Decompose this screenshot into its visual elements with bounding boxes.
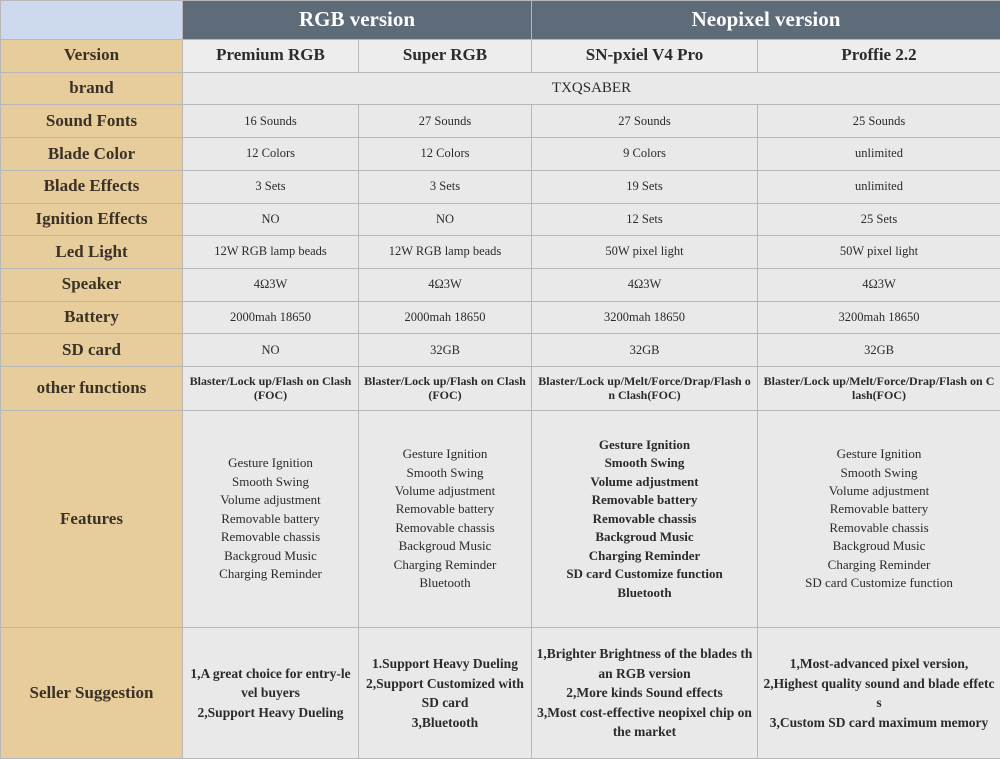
- row-label-sound-fonts: Sound Fonts: [1, 105, 183, 138]
- cell-sound-fonts-col2: 27 Sounds: [359, 105, 532, 138]
- cell-battery-col4: 3200mah 18650: [758, 301, 1000, 334]
- feature-line: Bluetooth: [536, 584, 753, 602]
- cell-other-functions-col2: Blaster/Lock up/Flash on Clash(FOC): [359, 367, 532, 411]
- cell-blade-effects-col4: unlimited: [758, 170, 1000, 203]
- cell-ignition-effects-col2: NO: [359, 203, 532, 236]
- cell-led-light-col2: 12W RGB lamp beads: [359, 236, 532, 269]
- row-label-seller-suggestion: Seller Suggestion: [1, 628, 183, 759]
- feature-line: Removable chassis: [762, 519, 996, 537]
- feature-line: 2,Highest quality sound and blade effetc…: [762, 674, 996, 713]
- feature-line: SD card Customize function: [536, 565, 753, 583]
- group-header-row: RGB version Neopixel version: [1, 1, 1000, 40]
- feature-line: 1,Most-advanced pixel version,: [762, 654, 996, 674]
- cell-ignition-effects-col3: 12 Sets: [532, 203, 758, 236]
- feature-line: 1.Support Heavy Dueling: [363, 654, 527, 674]
- cell-other-functions-col3: Blaster/Lock up/Melt/Force/Drap/Flash on…: [532, 367, 758, 411]
- cell-features-col2: Gesture IgnitionSmooth SwingVolume adjus…: [359, 410, 532, 628]
- feature-line: SD card Customize function: [762, 574, 996, 592]
- product-comparison-table: RGB version Neopixel version Version Pre…: [0, 0, 1000, 759]
- cell-speaker-col4: 4Ω3W: [758, 268, 1000, 301]
- cell-sd-card-col4: 32GB: [758, 334, 1000, 367]
- feature-line: Backgroud Music: [187, 547, 354, 565]
- row-label-other-functions: other functions: [1, 367, 183, 411]
- cell-version-col1: Premium RGB: [183, 39, 359, 72]
- table-row: Led Light 12W RGB lamp beads 12W RGB lam…: [1, 236, 1000, 269]
- cell-blade-effects-col1: 3 Sets: [183, 170, 359, 203]
- cell-sd-card-col3: 32GB: [532, 334, 758, 367]
- row-label-sd-card: SD card: [1, 334, 183, 367]
- feature-line: Backgroud Music: [536, 528, 753, 546]
- row-label-ignition-effects: Ignition Effects: [1, 203, 183, 236]
- table-row: Blade Effects 3 Sets 3 Sets 19 Sets unli…: [1, 170, 1000, 203]
- feature-line: Backgroud Music: [762, 537, 996, 555]
- cell-version-col3: SN-pxiel V4 Pro: [532, 39, 758, 72]
- cell-ignition-effects-col4: 25 Sets: [758, 203, 1000, 236]
- cell-blade-color-col3: 9 Colors: [532, 138, 758, 171]
- group-header-rgb: RGB version: [183, 1, 532, 40]
- feature-line: Gesture Ignition: [536, 436, 753, 454]
- feature-line: Removable battery: [762, 500, 996, 518]
- cell-seller-suggestion-col2: 1.Support Heavy Dueling2,Support Customi…: [359, 628, 532, 759]
- cell-version-col4: Proffie 2.2: [758, 39, 1000, 72]
- feature-line: Smooth Swing: [187, 473, 354, 491]
- cell-brand-merged: TXQSABER: [183, 72, 1000, 105]
- cell-version-col2: Super RGB: [359, 39, 532, 72]
- cell-ignition-effects-col1: NO: [183, 203, 359, 236]
- cell-sound-fonts-col3: 27 Sounds: [532, 105, 758, 138]
- cell-features-col1: Gesture IgnitionSmooth SwingVolume adjus…: [183, 410, 359, 628]
- cell-speaker-col2: 4Ω3W: [359, 268, 532, 301]
- cell-blade-color-col1: 12 Colors: [183, 138, 359, 171]
- feature-line: Bluetooth: [363, 574, 527, 592]
- table-row: Speaker 4Ω3W 4Ω3W 4Ω3W 4Ω3W: [1, 268, 1000, 301]
- cell-seller-suggestion-col4: 1,Most-advanced pixel version,2,Highest …: [758, 628, 1000, 759]
- feature-line: 3,Custom SD card maximum memory: [762, 713, 996, 733]
- feature-line: 1,Brighter Brightness of the blades than…: [536, 644, 753, 683]
- table-row: brand TXQSABER: [1, 72, 1000, 105]
- feature-line: Charging Reminder: [363, 556, 527, 574]
- feature-line: Gesture Ignition: [187, 454, 354, 472]
- row-label-speaker: Speaker: [1, 268, 183, 301]
- row-label-battery: Battery: [1, 301, 183, 334]
- feature-line: Removable chassis: [536, 510, 753, 528]
- feature-line: Smooth Swing: [762, 464, 996, 482]
- row-label-led-light: Led Light: [1, 236, 183, 269]
- cell-features-col4: Gesture IgnitionSmooth SwingVolume adjus…: [758, 410, 1000, 628]
- feature-line: 2,More kinds Sound effects: [536, 683, 753, 703]
- feature-line: Volume adjustment: [762, 482, 996, 500]
- cell-battery-col1: 2000mah 18650: [183, 301, 359, 334]
- cell-blade-effects-col3: 19 Sets: [532, 170, 758, 203]
- feature-line: Backgroud Music: [363, 537, 527, 555]
- cell-blade-effects-col2: 3 Sets: [359, 170, 532, 203]
- feature-line: Volume adjustment: [536, 473, 753, 491]
- table-row: Battery 2000mah 18650 2000mah 18650 3200…: [1, 301, 1000, 334]
- cell-led-light-col4: 50W pixel light: [758, 236, 1000, 269]
- cell-sd-card-col1: NO: [183, 334, 359, 367]
- cell-sound-fonts-col4: 25 Sounds: [758, 105, 1000, 138]
- cell-sd-card-col2: 32GB: [359, 334, 532, 367]
- table-row: Features Gesture IgnitionSmooth SwingVol…: [1, 410, 1000, 628]
- feature-line: 2,Support Heavy Dueling: [187, 703, 354, 723]
- feature-line: Removable battery: [187, 510, 354, 528]
- feature-line: Charging Reminder: [536, 547, 753, 565]
- cell-blade-color-col4: unlimited: [758, 138, 1000, 171]
- table-row: Seller Suggestion 1,A great choice for e…: [1, 628, 1000, 759]
- table-row: Blade Color 12 Colors 12 Colors 9 Colors…: [1, 138, 1000, 171]
- cell-seller-suggestion-col1: 1,A great choice for entry-level buyers2…: [183, 628, 359, 759]
- cell-blade-color-col2: 12 Colors: [359, 138, 532, 171]
- cell-sound-fonts-col1: 16 Sounds: [183, 105, 359, 138]
- cell-other-functions-col4: Blaster/Lock up/Melt/Force/Drap/Flash on…: [758, 367, 1000, 411]
- corner-cell: [1, 1, 183, 40]
- cell-led-light-col3: 50W pixel light: [532, 236, 758, 269]
- feature-line: Smooth Swing: [363, 464, 527, 482]
- feature-line: Smooth Swing: [536, 454, 753, 472]
- row-label-blade-color: Blade Color: [1, 138, 183, 171]
- feature-line: Gesture Ignition: [762, 445, 996, 463]
- feature-line: Removable battery: [536, 491, 753, 509]
- table-row: Version Premium RGB Super RGB SN-pxiel V…: [1, 39, 1000, 72]
- feature-line: 1,A great choice for entry-level buyers: [187, 664, 354, 703]
- feature-line: 3,Most cost-effective neopixel chip on t…: [536, 703, 753, 742]
- feature-line: 2,Support Customized with SD card: [363, 674, 527, 713]
- table-row: Ignition Effects NO NO 12 Sets 25 Sets: [1, 203, 1000, 236]
- row-label-brand: brand: [1, 72, 183, 105]
- cell-led-light-col1: 12W RGB lamp beads: [183, 236, 359, 269]
- row-label-version: Version: [1, 39, 183, 72]
- feature-line: 3,Bluetooth: [363, 713, 527, 733]
- row-label-features: Features: [1, 410, 183, 628]
- feature-line: Gesture Ignition: [363, 445, 527, 463]
- feature-line: Removable chassis: [187, 528, 354, 546]
- feature-line: Removable battery: [363, 500, 527, 518]
- cell-speaker-col3: 4Ω3W: [532, 268, 758, 301]
- feature-line: Volume adjustment: [187, 491, 354, 509]
- cell-battery-col2: 2000mah 18650: [359, 301, 532, 334]
- feature-line: Volume adjustment: [363, 482, 527, 500]
- feature-line: Charging Reminder: [187, 565, 354, 583]
- cell-seller-suggestion-col3: 1,Brighter Brightness of the blades than…: [532, 628, 758, 759]
- feature-line: Charging Reminder: [762, 556, 996, 574]
- group-header-neopixel: Neopixel version: [532, 1, 1000, 40]
- table-row: SD card NO 32GB 32GB 32GB: [1, 334, 1000, 367]
- table-body: RGB version Neopixel version Version Pre…: [1, 1, 1000, 759]
- cell-features-col3: Gesture IgnitionSmooth SwingVolume adjus…: [532, 410, 758, 628]
- cell-battery-col3: 3200mah 18650: [532, 301, 758, 334]
- feature-line: Removable chassis: [363, 519, 527, 537]
- table-row: Sound Fonts 16 Sounds 27 Sounds 27 Sound…: [1, 105, 1000, 138]
- cell-speaker-col1: 4Ω3W: [183, 268, 359, 301]
- row-label-blade-effects: Blade Effects: [1, 170, 183, 203]
- table-row: other functions Blaster/Lock up/Flash on…: [1, 367, 1000, 411]
- cell-other-functions-col1: Blaster/Lock up/Flash on Clash(FOC): [183, 367, 359, 411]
